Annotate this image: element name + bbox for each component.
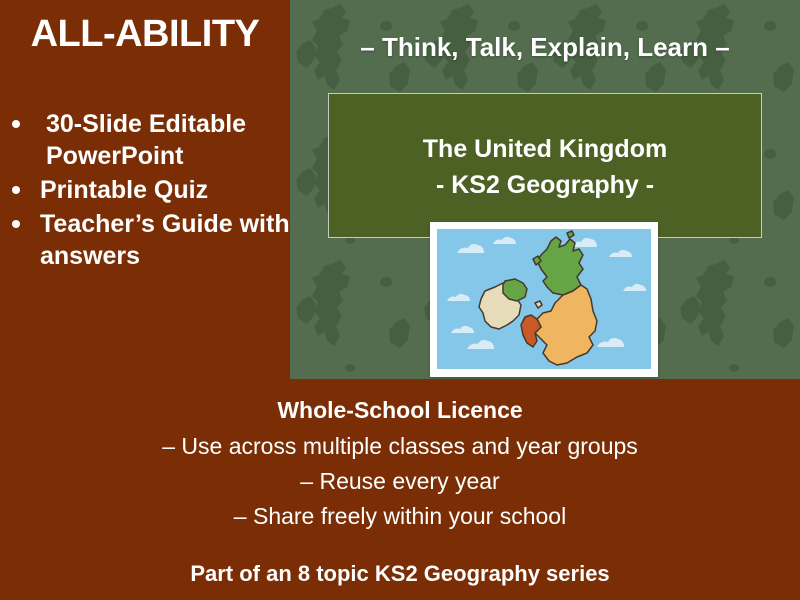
list-item: 30-Slide Editable PowerPoint — [6, 108, 290, 172]
licence-point: – Use across multiple classes and year g… — [0, 429, 800, 464]
product-cover-slide: – Think, Talk, Explain, Learn – The Unit… — [0, 0, 800, 600]
title-box: The United Kingdom - KS2 Geography - — [328, 93, 762, 238]
feature-bullet-list: 30-Slide Editable PowerPoint Printable Q… — [6, 108, 290, 274]
title-line-2: - KS2 Geography - — [329, 168, 761, 204]
bullet-dot-icon — [12, 120, 20, 128]
bottom-brown-panel: Whole-School Licence – Use across multip… — [0, 379, 800, 600]
series-note: Part of an 8 topic KS2 Geography series — [0, 561, 800, 587]
list-item-label: 30-Slide Editable PowerPoint — [40, 108, 290, 172]
bullet-dot-icon — [12, 186, 20, 194]
licence-points: – Use across multiple classes and year g… — [0, 429, 800, 534]
title-line-1: The United Kingdom — [329, 132, 761, 168]
licence-point: – Reuse every year — [0, 464, 800, 499]
uk-regions-map-icon — [437, 229, 651, 369]
title-text-block: The United Kingdom - KS2 Geography - — [329, 132, 761, 203]
licence-heading: Whole-School Licence — [0, 397, 800, 424]
green-background-panel: – Think, Talk, Explain, Learn – The Unit… — [290, 0, 800, 379]
page-title: ALL-ABILITY — [0, 14, 290, 56]
uk-map-card — [430, 222, 658, 377]
licence-point: – Share freely within your school — [0, 499, 800, 534]
list-item: Printable Quiz — [6, 174, 290, 206]
tagline-text: – Think, Talk, Explain, Learn – — [290, 32, 800, 63]
bullet-dot-icon — [12, 220, 20, 228]
list-item: Teacher’s Guide with answers — [6, 208, 290, 272]
list-item-label: Teacher’s Guide with answers — [40, 210, 290, 270]
list-item-label: Printable Quiz — [40, 176, 208, 204]
left-brown-panel: ALL-ABILITY 30-Slide Editable PowerPoint… — [0, 0, 290, 379]
